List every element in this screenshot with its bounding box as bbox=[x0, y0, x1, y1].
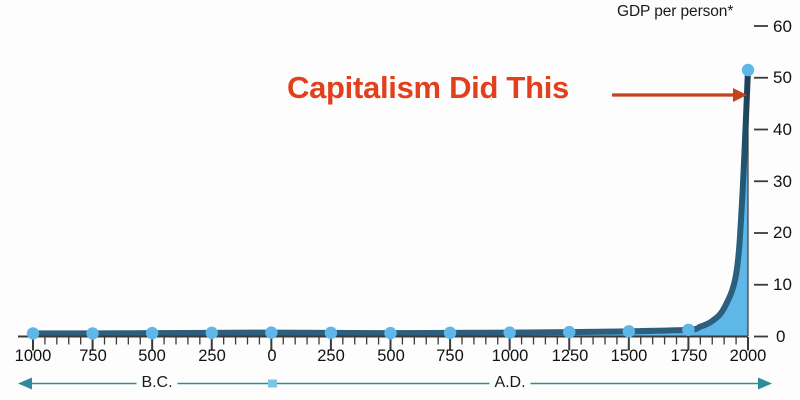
x-tick-label-2000ad: 2000 bbox=[730, 347, 767, 366]
gdp-per-person-chart: GDP per person* 60 50 40 30 20 10 0 1000… bbox=[0, 0, 800, 400]
chart-canvas bbox=[0, 0, 800, 400]
x-tick-label-1500ad: 1500 bbox=[611, 347, 648, 366]
annotation-arrow bbox=[612, 88, 747, 102]
y-axis-ticks bbox=[754, 26, 768, 337]
data-point bbox=[623, 325, 635, 337]
x-tick-label-1750ad: 1750 bbox=[671, 347, 708, 366]
y-tick-label-40: 40 bbox=[773, 120, 792, 140]
x-tick-label-250bc: 250 bbox=[198, 347, 226, 366]
data-point bbox=[86, 327, 98, 339]
era-axis bbox=[18, 378, 772, 390]
y-tick-label-10: 10 bbox=[773, 275, 792, 295]
data-point bbox=[503, 326, 515, 338]
data-point bbox=[444, 327, 456, 339]
y-axis-title: GDP per person* bbox=[617, 3, 733, 21]
era-label-ad: A.D. bbox=[489, 374, 530, 392]
data-point bbox=[206, 327, 218, 339]
era-divider-marker bbox=[268, 380, 277, 388]
data-point bbox=[27, 327, 39, 339]
data-point bbox=[682, 324, 694, 336]
x-tick-label-1000ad: 1000 bbox=[492, 347, 529, 366]
x-tick-label-1250ad: 1250 bbox=[552, 347, 589, 366]
era-label-bc: B.C. bbox=[136, 374, 177, 392]
data-point bbox=[325, 327, 337, 339]
data-point bbox=[563, 326, 575, 338]
series-line bbox=[33, 70, 748, 333]
x-tick-label-250ad: 250 bbox=[317, 347, 345, 366]
x-tick-label-500ad: 500 bbox=[377, 347, 405, 366]
data-point bbox=[742, 64, 754, 76]
y-tick-label-30: 30 bbox=[773, 172, 792, 192]
annotation-text: Capitalism Did This bbox=[287, 70, 569, 106]
y-tick-label-60: 60 bbox=[773, 17, 792, 37]
x-tick-label-750ad: 750 bbox=[436, 347, 464, 366]
y-tick-label-20: 20 bbox=[773, 223, 792, 243]
area-fill bbox=[33, 70, 748, 337]
x-tick-label-750bc: 750 bbox=[79, 347, 107, 366]
y-tick-label-50: 50 bbox=[773, 68, 792, 88]
x-tick-label-500bc: 500 bbox=[138, 347, 166, 366]
data-point bbox=[265, 326, 277, 338]
x-tick-label-1000bc: 1000 bbox=[15, 347, 52, 366]
y-tick-label-0: 0 bbox=[776, 327, 785, 347]
data-point bbox=[146, 327, 158, 339]
x-tick-label-0: 0 bbox=[267, 347, 276, 366]
data-point bbox=[384, 327, 396, 339]
